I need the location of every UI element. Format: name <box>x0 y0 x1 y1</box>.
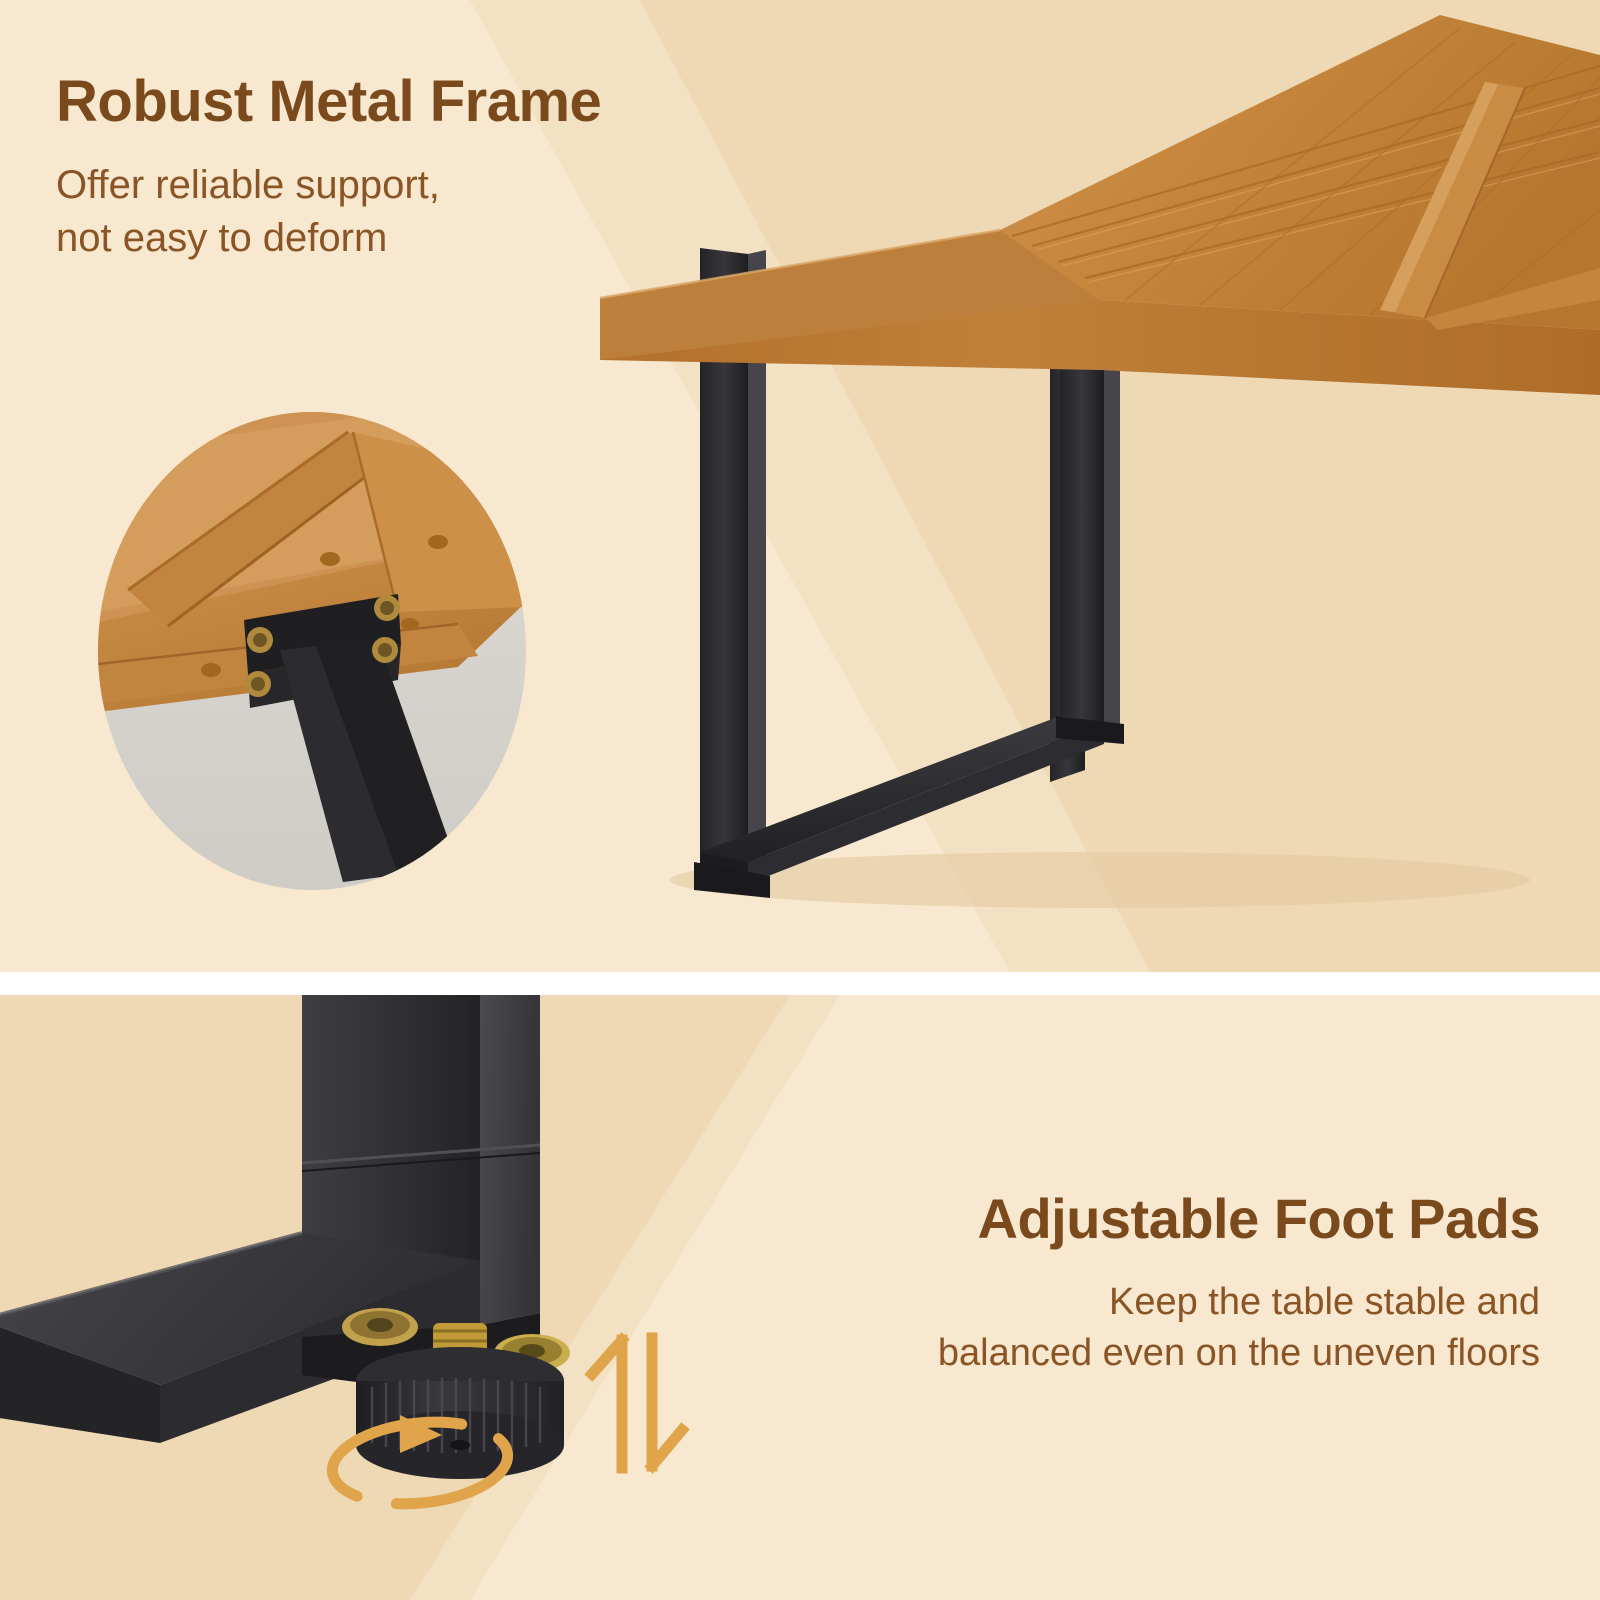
feature-text-adjustable-foot-pads: Adjustable Foot Pads Keep the table stab… <box>938 1190 1540 1379</box>
subtext-line-1: Keep the table stable and <box>938 1277 1540 1328</box>
subtext-line-2: balanced even on the uneven floors <box>938 1328 1540 1379</box>
up-down-arrow-icon <box>578 1322 698 1482</box>
wooden-table-illustration <box>580 0 1600 930</box>
subtext-line-2: not easy to deform <box>56 212 601 266</box>
feature-subtext-robust-metal-frame: Offer reliable support, not easy to defo… <box>56 159 601 266</box>
subtext-line-1: Offer reliable support, <box>56 159 601 213</box>
feature-panel-robust-metal-frame: Robust Metal Frame Offer reliable suppor… <box>0 0 1600 972</box>
rotation-arrow-icon <box>300 1405 540 1525</box>
feature-subtext-adjustable-foot-pads: Keep the table stable and balanced even … <box>938 1277 1540 1379</box>
feature-text-robust-metal-frame: Robust Metal Frame Offer reliable suppor… <box>56 72 601 266</box>
product-feature-infographic: Robust Metal Frame Offer reliable suppor… <box>0 0 1600 1600</box>
page-title-robust-metal-frame: Robust Metal Frame <box>56 72 601 133</box>
closeup-inset-underside-bracket <box>98 412 526 890</box>
page-title-adjustable-foot-pads: Adjustable Foot Pads <box>938 1190 1540 1249</box>
